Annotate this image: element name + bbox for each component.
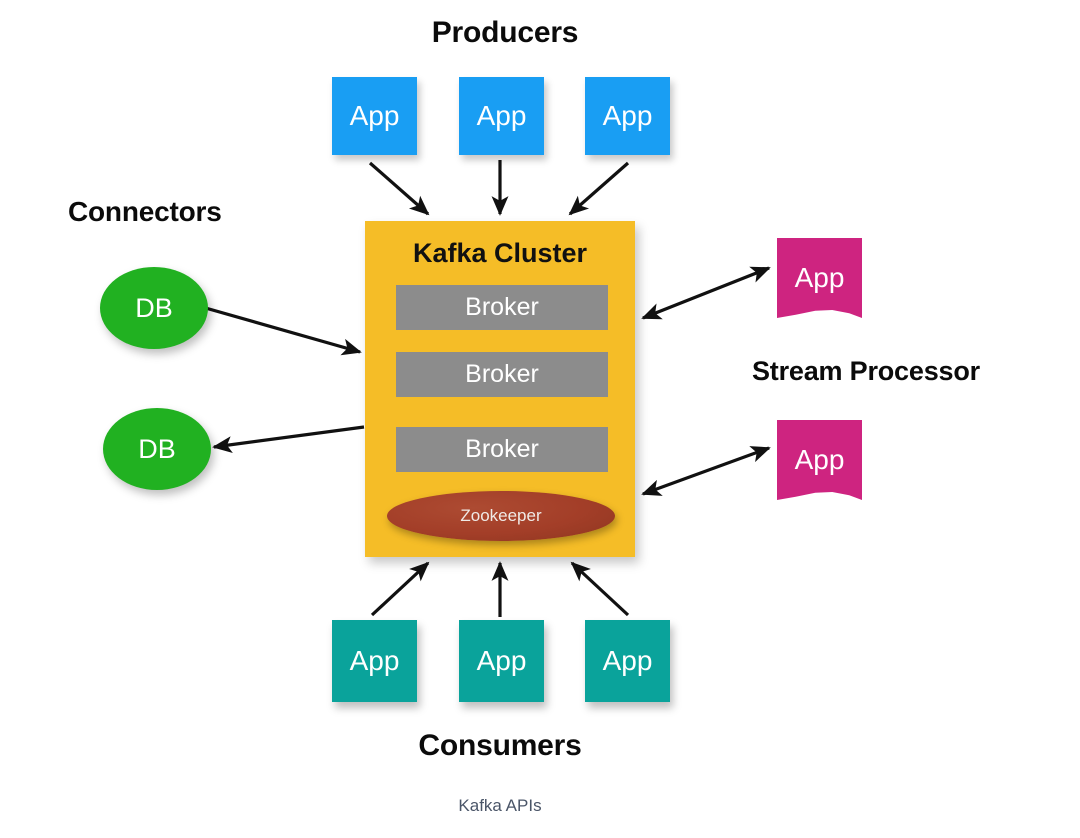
producer-app-3-label: App — [603, 100, 653, 132]
consumer-app-1-label: App — [350, 645, 400, 677]
producer-app-1-label: App — [350, 100, 400, 132]
broker-1[interactable]: Broker — [396, 285, 608, 330]
arrow-producer-1-to-cluster — [370, 163, 428, 214]
consumer-app-2[interactable]: App — [459, 620, 544, 702]
producer-app-1[interactable]: App — [332, 77, 417, 155]
stream-processor-app-1-label: App — [795, 262, 845, 294]
producer-app-3[interactable]: App — [585, 77, 670, 155]
arrow-producer-3-to-cluster — [570, 163, 628, 214]
arrow-cluster-to-connector-db-2 — [214, 427, 364, 447]
stream-processor-app-2[interactable]: App — [777, 420, 862, 500]
zookeeper-label: Zookeeper — [460, 506, 541, 526]
consumers-heading: Consumers — [0, 729, 1000, 763]
arrow-cluster-to-stream-processor-1 — [643, 268, 769, 318]
stream-processor-app-1[interactable]: App — [777, 238, 862, 318]
consumer-app-1[interactable]: App — [332, 620, 417, 702]
broker-3[interactable]: Broker — [396, 427, 608, 472]
arrow-consumer-3-to-cluster — [572, 563, 628, 615]
broker-2[interactable]: Broker — [396, 352, 608, 397]
kafka-cluster-title: Kafka Cluster — [365, 238, 635, 269]
kafka-cluster[interactable]: Kafka Cluster Broker Broker Broker Zooke… — [365, 221, 635, 557]
broker-2-label: Broker — [465, 360, 539, 389]
stream-processor-heading: Stream Processor — [752, 356, 980, 387]
consumer-app-3-label: App — [603, 645, 653, 677]
arrow-cluster-to-stream-processor-2 — [643, 448, 769, 494]
connector-db-1[interactable]: DB — [100, 267, 208, 349]
arrow-connector-db-1-to-cluster — [202, 307, 360, 352]
diagram-caption: Kafka APIs — [0, 796, 1000, 816]
producer-app-2-label: App — [477, 100, 527, 132]
kafka-architecture-diagram: Producers Connectors Stream Processor Co… — [0, 0, 1080, 838]
stream-processor-app-2-label: App — [795, 444, 845, 476]
arrow-consumer-1-to-cluster — [372, 563, 428, 615]
connector-db-1-label: DB — [135, 293, 173, 324]
consumer-app-3[interactable]: App — [585, 620, 670, 702]
connectors-heading: Connectors — [68, 196, 222, 228]
producer-app-2[interactable]: App — [459, 77, 544, 155]
consumer-app-2-label: App — [477, 645, 527, 677]
broker-1-label: Broker — [465, 293, 539, 322]
connector-db-2[interactable]: DB — [103, 408, 211, 490]
producers-heading: Producers — [0, 16, 1010, 50]
zookeeper-node[interactable]: Zookeeper — [387, 491, 615, 541]
connector-db-2-label: DB — [138, 434, 176, 465]
broker-3-label: Broker — [465, 435, 539, 464]
